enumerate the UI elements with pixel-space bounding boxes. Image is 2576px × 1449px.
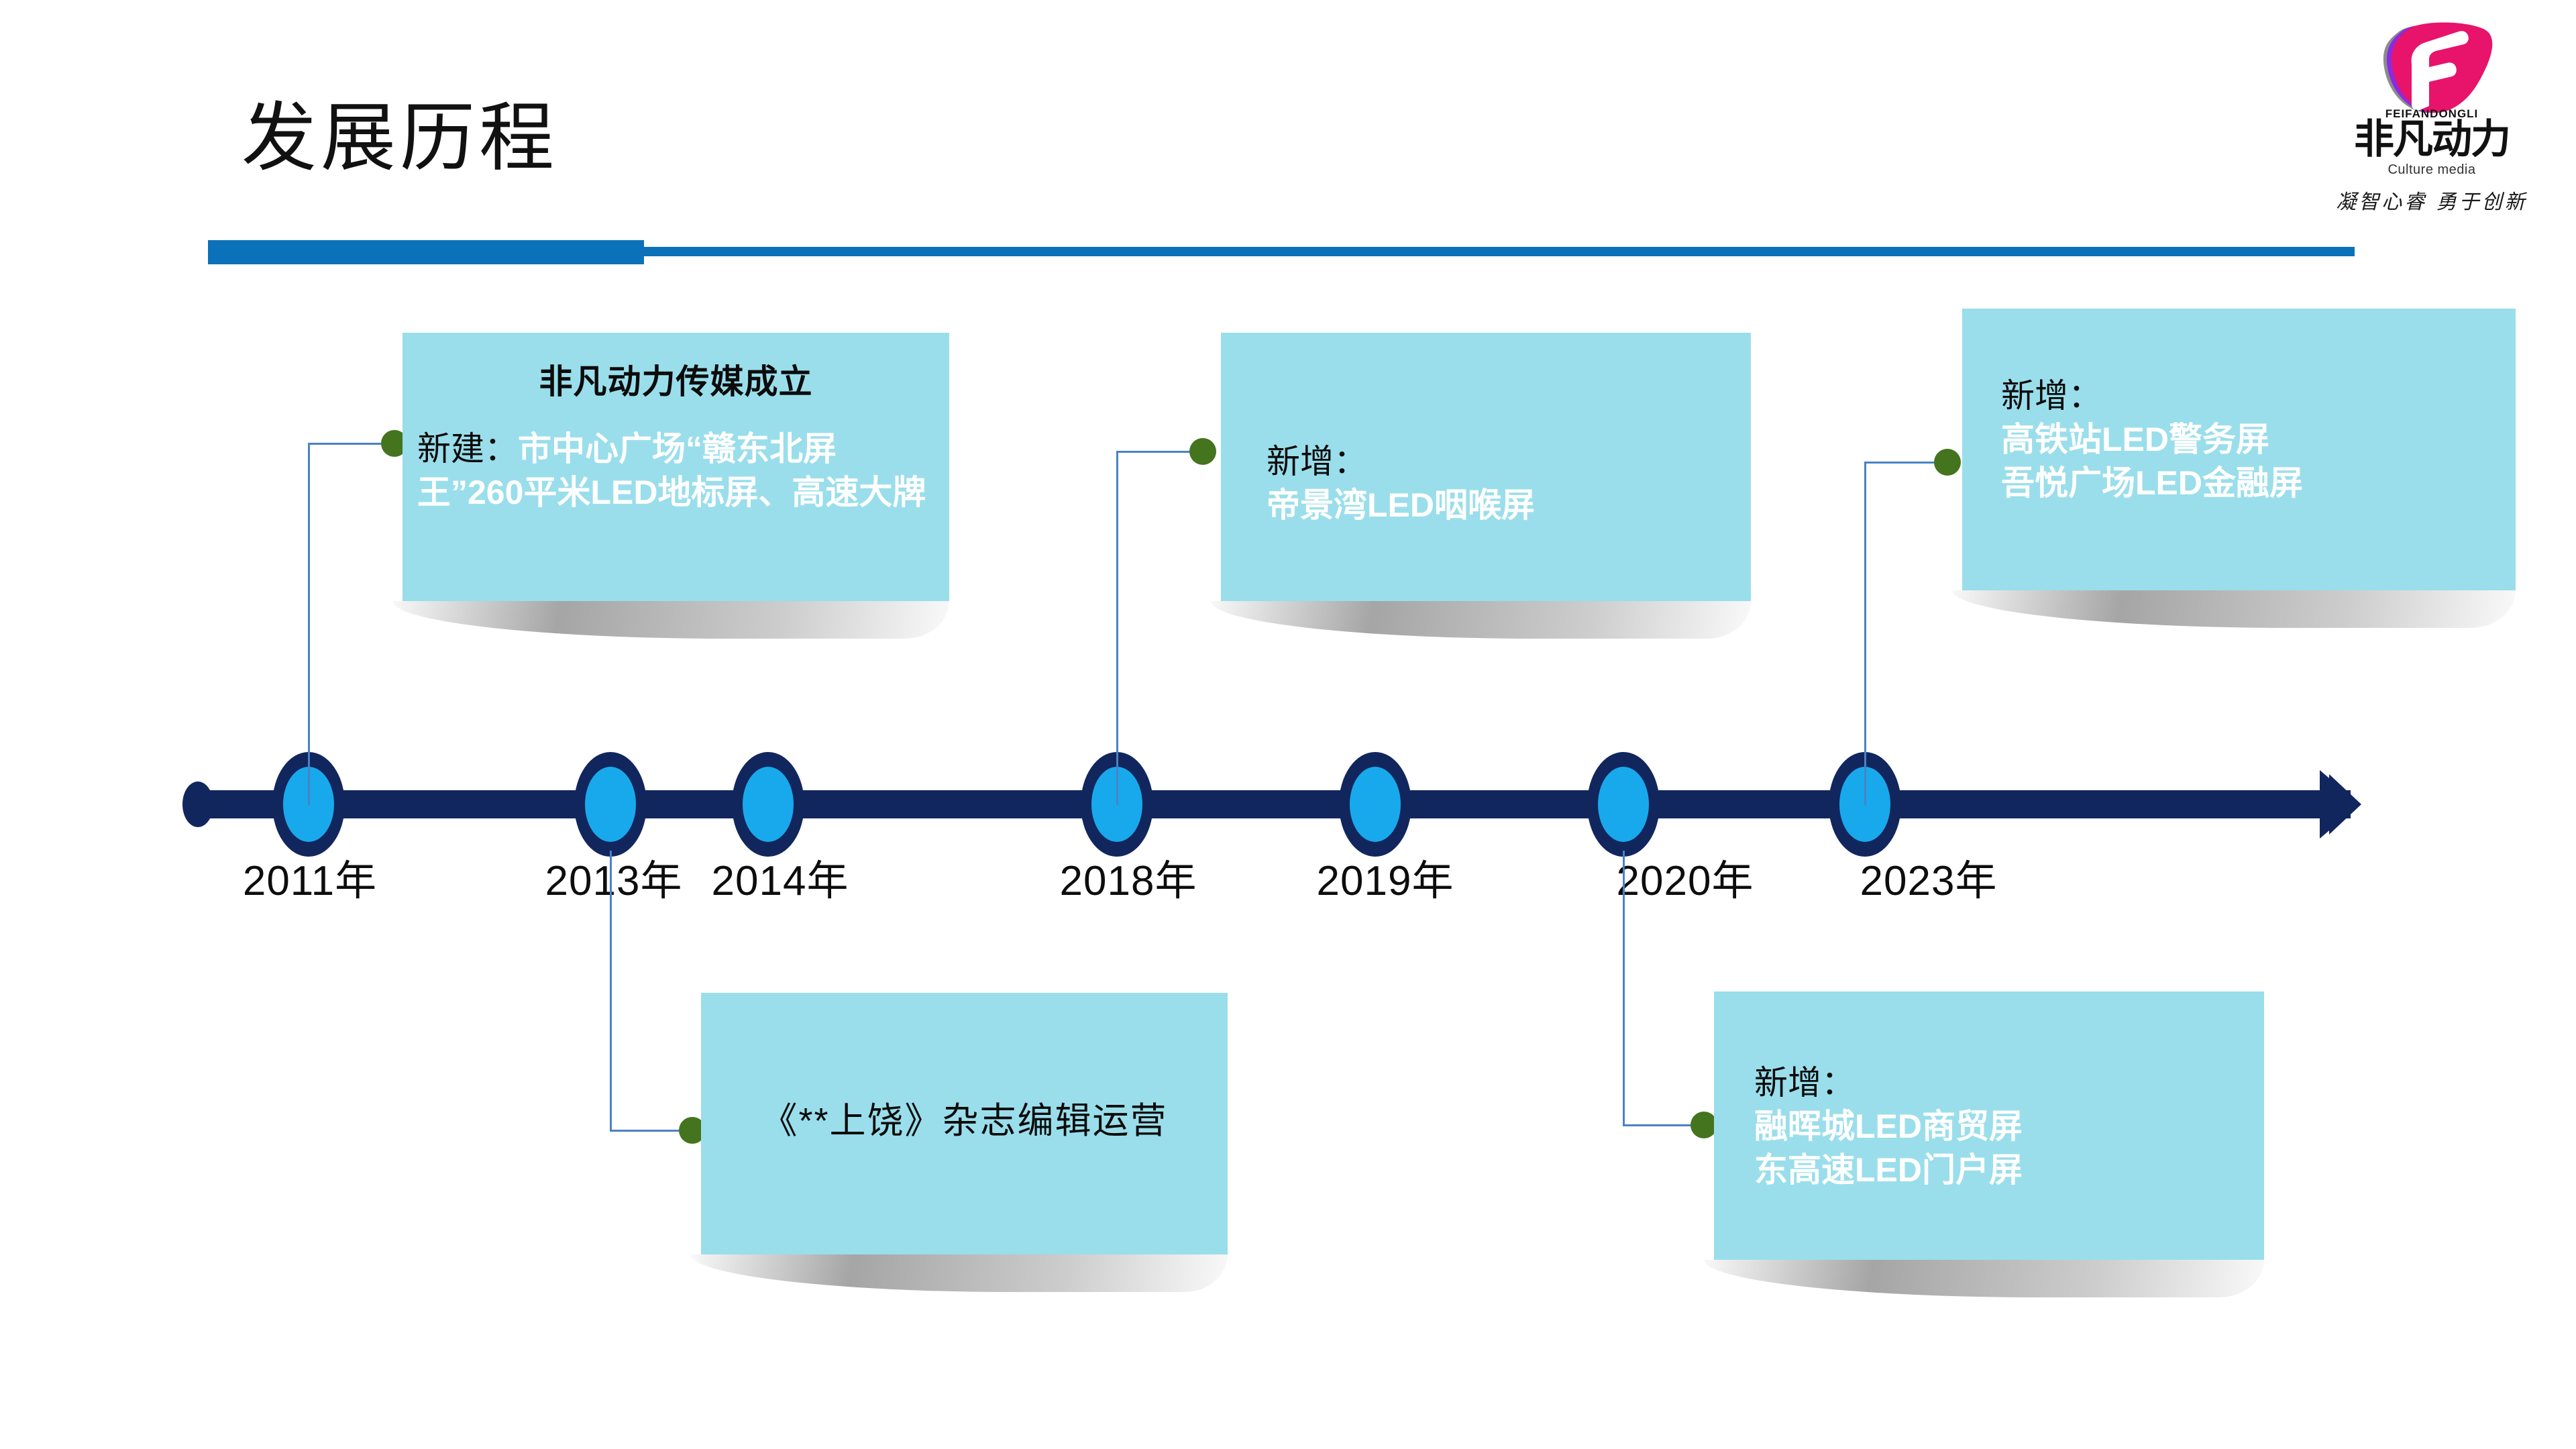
connector-dot-2020 [1690,1112,1717,1138]
card-highlight-line2-2020: 东高速LED门户屏 [1754,1148,2249,1192]
milestone-card-2013[interactable]: 《**上饶》杂志编辑运营 [701,993,1228,1254]
card-body-2023: 新增： 高铁站LED警务屏 吾悦广场LED金融屏 [2001,374,2501,505]
card-title-2011: 非凡动力传媒成立 [417,361,934,403]
card-shadow-2011 [392,601,949,639]
timeline-arrow-icon [2281,765,2361,844]
milestone-card-2023[interactable]: 新增： 高铁站LED警务屏 吾悦广场LED金融屏 [1962,309,2516,590]
card-body-2018: 新增： 帝景湾LED咽喉屏 [1267,440,1736,527]
card-highlight-line2-2023: 吾悦广场LED金融屏 [2001,462,2501,505]
card-shadow-2023 [1952,590,2516,628]
card-lead-2023: 新增： [2001,374,2501,418]
card-shadow-2018 [1211,601,1751,639]
connector-horizontal-2011 [308,443,388,445]
year-label-2020: 2020年 [1617,847,1754,907]
logo-english-name: Culture media [2334,162,2529,178]
card-lead-2011: 新建： [417,430,518,468]
card-highlight-2018: 帝景湾LED咽喉屏 [1267,484,1736,527]
year-label-2019: 2019年 [1317,847,1454,907]
card-highlight-line1-2023: 高铁站LED警务屏 [2001,418,2501,462]
milestone-card-2018[interactable]: 新增： 帝景湾LED咽喉屏 [1221,333,1751,601]
year-label-2014: 2014年 [712,847,849,907]
card-lead-2018: 新增： [1267,440,1736,484]
timeline-axis-bar [195,790,2328,818]
slide-canvas: 发展历程 FEIFANDONGLI 非凡动力 Culture media 凝智心… [0,0,2576,1449]
card-plain-2013: 《**上饶》杂志编辑运营 [714,1097,1214,1144]
logo-mark-icon [2371,20,2495,121]
timeline-node-2020[interactable] [1587,752,1660,857]
timeline-node-2013[interactable] [574,752,647,857]
timeline-node-2014[interactable] [732,752,804,857]
page-title: 发展历程 [241,101,558,176]
card-shadow-2020 [1704,1260,2264,1297]
connector-vertical-2011 [308,443,310,805]
title-accent-bar-thick [208,240,644,264]
card-highlight-line1-2020: 融晖城LED商贸屏 [1754,1105,2249,1148]
year-label-2023: 2023年 [1860,847,1998,907]
card-shadow-2013 [691,1254,1228,1292]
year-label-2011: 2011年 [243,847,377,907]
connector-vertical-2013 [610,851,612,1131]
card-body-2020: 新增： 融晖城LED商贸屏 东高速LED门户屏 [1754,1061,2249,1192]
connector-dot-2023 [1934,449,1961,476]
year-label-2013: 2013年 [545,847,683,907]
title-accent-bar-thin [641,247,2355,256]
company-logo: FEIFANDONGLI 非凡动力 Culture media 凝智心睿 勇于创… [2334,20,2529,221]
milestone-card-2011[interactable]: 非凡动力传媒成立 新建：市中心广场“赣东北屏王”260平米LED地标屏、高速大牌 [402,333,949,601]
timeline-node-2019[interactable] [1339,752,1411,857]
card-body-2011: 新建：市中心广场“赣东北屏王”260平米LED地标屏、高速大牌 [417,427,934,515]
year-label-2018: 2018年 [1060,847,1197,907]
logo-tagline: 凝智心睿 勇于创新 [2334,185,2529,215]
connector-dot-2018 [1189,438,1216,465]
connector-vertical-2020 [1623,851,1625,1126]
connector-vertical-2018 [1116,451,1118,805]
logo-chinese-name: 非凡动力 [2334,119,2529,160]
connector-vertical-2023 [1864,462,1866,805]
milestone-card-2020[interactable]: 新增： 融晖城LED商贸屏 东高速LED门户屏 [1714,991,2264,1260]
connector-horizontal-2018 [1116,451,1197,453]
card-lead-2020: 新增： [1754,1061,2249,1105]
